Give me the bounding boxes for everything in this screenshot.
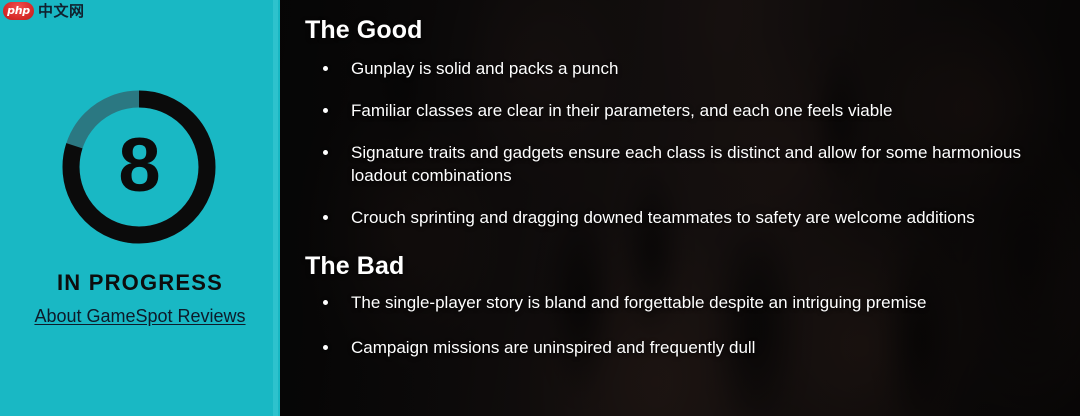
site-watermark-logo: php 中文网 [3, 2, 85, 20]
review-verdict-card: php 中文网 8 IN PROGRESS About GameSpot Rev… [0, 0, 1080, 416]
list-item-text: Familiar classes are clear in their para… [351, 101, 892, 120]
about-reviews-link[interactable]: About GameSpot Reviews [34, 306, 245, 327]
list-item-text: Campaign missions are uninspired and fre… [351, 338, 755, 357]
score-status-label: IN PROGRESS [57, 270, 223, 296]
score-value: 8 [60, 88, 218, 246]
list-item: Campaign missions are uninspired and fre… [305, 336, 1035, 359]
list-item: The single-player story is bland and for… [305, 291, 1035, 314]
php-badge-icon: php [3, 2, 34, 20]
heading-the-bad: The Bad [305, 252, 1056, 281]
bullet-dot-icon [323, 215, 328, 220]
bullet-dot-icon [323, 66, 328, 71]
list-item-text: The single-player story is bland and for… [351, 293, 927, 312]
list-item-text: Signature traits and gadgets ensure each… [351, 143, 1021, 185]
score-panel: php 中文网 8 IN PROGRESS About GameSpot Rev… [0, 0, 280, 416]
bullet-dot-icon [323, 150, 328, 155]
list-item-text: Crouch sprinting and dragging downed tea… [351, 208, 975, 227]
bullet-dot-icon [323, 108, 328, 113]
list-item: Familiar classes are clear in their para… [305, 99, 1035, 122]
list-item-text: Gunplay is solid and packs a punch [351, 59, 618, 78]
site-name-label: 中文网 [38, 3, 85, 20]
list-item: Signature traits and gadgets ensure each… [305, 141, 1035, 187]
review-content: The Good Gunplay is solid and packs a pu… [280, 0, 1080, 359]
score-ring: 8 [60, 88, 218, 246]
the-bad-list: The single-player story is bland and for… [305, 291, 1056, 359]
heading-the-good: The Good [305, 16, 1056, 45]
list-item: Crouch sprinting and dragging downed tea… [305, 206, 1035, 229]
bullet-dot-icon [323, 300, 328, 305]
review-panel: The Good Gunplay is solid and packs a pu… [280, 0, 1080, 416]
bullet-dot-icon [323, 345, 328, 350]
list-item: Gunplay is solid and packs a punch [305, 57, 1035, 80]
the-good-list: Gunplay is solid and packs a punch Famil… [305, 57, 1056, 230]
